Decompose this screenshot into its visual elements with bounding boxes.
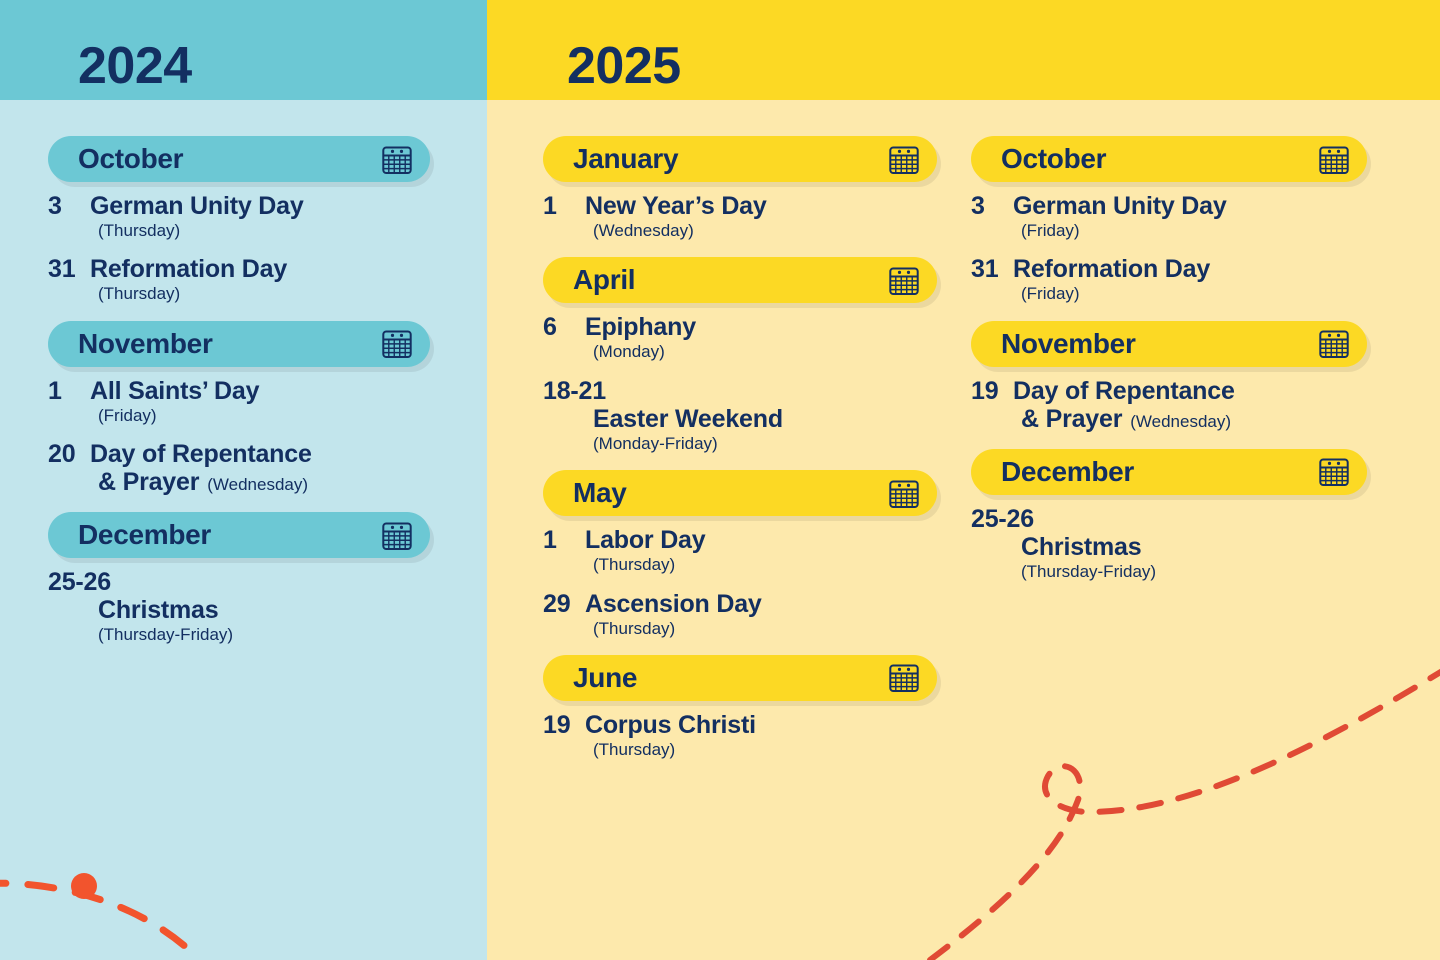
year-title-2024: 2024 [78,40,192,92]
holiday-weekday: (Wednesday) [207,475,308,494]
holiday-weekday: (Wednesday) [543,221,937,241]
calendar-icon [1319,456,1349,487]
holiday-line: 1All Saints’ Day [48,377,430,405]
holiday-line: 18-21 [543,377,937,405]
holiday-list: 25-26Christmas(Thursday-Friday) [971,505,1367,582]
holiday-weekday: (Thursday-Friday) [971,562,1367,582]
holiday-list: 1New Year’s Day(Wednesday) [543,192,937,241]
month-label: December [1001,458,1134,486]
month-header-april[interactable]: April [543,257,937,303]
month-header-may[interactable]: May [543,470,937,516]
calendar-icon [889,478,919,509]
holiday-day: 29 [543,590,585,618]
month-label: October [78,145,183,173]
holiday-list: 3German Unity Day(Thursday)31Reformation… [48,192,430,305]
holiday-weekday: (Friday) [971,284,1367,304]
column-2024: October3German Unity Day(Thursday)31Refo… [0,100,487,960]
month-label: May [573,479,627,507]
holiday-entry: 1All Saints’ Day(Friday) [48,377,430,426]
holiday-list: 19Corpus Christi(Thursday) [543,711,937,760]
month-header-october[interactable]: October [971,136,1367,182]
holiday-name: Easter Weekend [543,405,937,433]
holiday-day: 20 [48,440,90,468]
holiday-entry: 20Day of Repentance& Prayer(Wednesday) [48,440,430,496]
holiday-day: 19 [971,377,1013,405]
year-header-2025: 2025 [487,0,1440,100]
holiday-name: Labor Day [585,526,705,554]
month-label: November [78,330,213,358]
month-label: June [573,664,637,692]
calendar-icon [382,328,412,359]
holiday-name-continued: & Prayer(Wednesday) [48,468,430,496]
holiday-entry: 31Reformation Day(Thursday) [48,255,430,304]
calendar-icon [382,144,412,175]
holiday-name-line2: & Prayer [98,468,199,496]
holiday-weekday: (Thursday) [543,619,937,639]
holiday-entry: 3German Unity Day(Friday) [971,192,1367,241]
month-label: December [78,521,211,549]
holiday-weekday: (Thursday) [543,740,937,760]
holiday-list: 1All Saints’ Day(Friday)20Day of Repenta… [48,377,430,496]
holiday-day: 1 [543,526,585,554]
holiday-line: 1Labor Day [543,526,937,554]
holiday-line: 29Ascension Day [543,590,937,618]
holiday-name: Day of Repentance [1013,377,1235,405]
year-header-2024: 2024 [0,0,487,100]
calendar-icon [889,265,919,296]
holiday-name: German Unity Day [1013,192,1227,220]
holiday-name-continued: & Prayer(Wednesday) [971,405,1367,433]
holiday-entry: 18-21Easter Weekend(Monday-Friday) [543,377,937,454]
holiday-name: Day of Repentance [90,440,312,468]
holiday-line: 6Epiphany [543,313,937,341]
holiday-entry: 25-26Christmas(Thursday-Friday) [971,505,1367,582]
holiday-day: 1 [48,377,90,405]
holiday-name-line2: & Prayer [1021,405,1122,433]
holiday-line: 3German Unity Day [971,192,1367,220]
month-header-june[interactable]: June [543,655,937,701]
holiday-line: 1New Year’s Day [543,192,937,220]
holiday-entry: 3German Unity Day(Thursday) [48,192,430,241]
year-title-2025: 2025 [567,40,681,92]
holiday-name: New Year’s Day [585,192,767,220]
month-header-december[interactable]: December [48,512,430,558]
holiday-line: 31Reformation Day [971,255,1367,283]
holiday-name: Ascension Day [585,590,762,618]
holiday-day: 19 [543,711,585,739]
holiday-day: 18-21 [543,377,606,405]
month-label: November [1001,330,1136,358]
holiday-weekday: (Thursday) [48,284,430,304]
holiday-line: 25-26 [971,505,1367,533]
calendar-icon [382,520,412,551]
calendar-icon [1319,144,1349,175]
month-header-november[interactable]: November [971,321,1367,367]
month-label: January [573,145,678,173]
month-header-december[interactable]: December [971,449,1367,495]
calendar-icon [889,662,919,693]
holiday-name: Christmas [971,533,1367,561]
holiday-entry: 19Corpus Christi(Thursday) [543,711,937,760]
holiday-list: 25-26Christmas(Thursday-Friday) [48,568,430,645]
holiday-day: 25-26 [971,505,1034,533]
holiday-weekday: (Monday-Friday) [543,434,937,454]
holiday-name: Reformation Day [1013,255,1210,283]
month-label: April [573,266,635,294]
holiday-line: 20Day of Repentance [48,440,430,468]
holiday-name: Christmas [48,596,430,624]
holiday-day: 3 [48,192,90,220]
holiday-weekday: (Wednesday) [1130,412,1231,431]
holiday-entry: 1Labor Day(Thursday) [543,526,937,575]
holiday-line: 19Corpus Christi [543,711,937,739]
column-2025-second: October3German Unity Day(Friday)31Reform… [957,100,1427,960]
holiday-line: 19Day of Repentance [971,377,1367,405]
holiday-day: 31 [48,255,90,283]
calendar-icon [889,144,919,175]
holiday-name: All Saints’ Day [90,377,259,405]
holiday-day: 1 [543,192,585,220]
holiday-entry: 25-26Christmas(Thursday-Friday) [48,568,430,645]
holiday-weekday: (Friday) [971,221,1367,241]
holiday-day: 31 [971,255,1013,283]
holiday-line: 31Reformation Day [48,255,430,283]
calendar-columns: October3German Unity Day(Thursday)31Refo… [0,100,1440,960]
month-header-january[interactable]: January [543,136,937,182]
holiday-weekday: (Thursday) [543,555,937,575]
holiday-weekday: (Monday) [543,342,937,362]
holiday-weekday: (Thursday-Friday) [48,625,430,645]
holiday-day: 25-26 [48,568,111,596]
holiday-day: 3 [971,192,1013,220]
month-header-november[interactable]: November [48,321,430,367]
holiday-name: Reformation Day [90,255,287,283]
month-header-october[interactable]: October [48,136,430,182]
holiday-name: Epiphany [585,313,696,341]
holiday-entry: 31Reformation Day(Friday) [971,255,1367,304]
holiday-line: 25-26 [48,568,430,596]
holiday-list: 19Day of Repentance& Prayer(Wednesday) [971,377,1367,433]
holiday-list: 6Epiphany(Monday)18-21Easter Weekend(Mon… [543,313,937,454]
holiday-weekday: (Friday) [48,406,430,426]
holiday-entry: 29Ascension Day(Thursday) [543,590,937,639]
holiday-weekday: (Thursday) [48,221,430,241]
column-2025-first: January1New Year’s Day(Wednesday)April6E… [487,100,957,960]
holiday-list: 1Labor Day(Thursday)29Ascension Day(Thur… [543,526,937,639]
holiday-entry: 19Day of Repentance& Prayer(Wednesday) [971,377,1367,433]
holiday-entry: 1New Year’s Day(Wednesday) [543,192,937,241]
holiday-list: 3German Unity Day(Friday)31Reformation D… [971,192,1367,305]
holiday-entry: 6Epiphany(Monday) [543,313,937,362]
calendar-icon [1319,328,1349,359]
holiday-name: German Unity Day [90,192,304,220]
holiday-line: 3German Unity Day [48,192,430,220]
month-label: October [1001,145,1106,173]
holiday-name: Corpus Christi [585,711,756,739]
holiday-day: 6 [543,313,585,341]
